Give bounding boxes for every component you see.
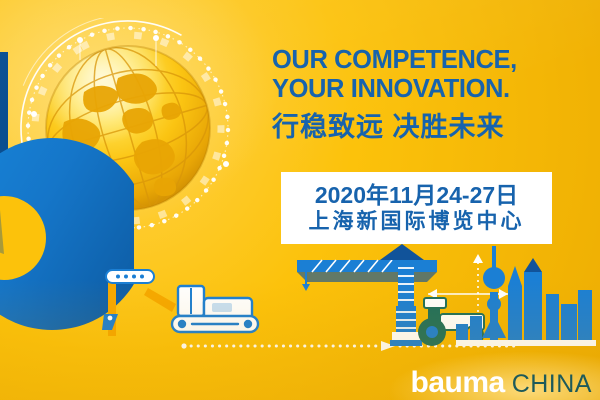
machinery-svg xyxy=(0,242,600,362)
headline-line-chinese: 行稳致远 决胜未来 xyxy=(272,110,588,144)
machinery-illustration-strip xyxy=(0,242,600,362)
bauma-china-logo: bauma CHINA xyxy=(411,368,593,398)
headline-line-1: OUR COMPETENCE, xyxy=(272,46,588,75)
arrow-up-icon xyxy=(473,254,483,263)
bauma-china-promo-banner: OUR COMPETENCE, YOUR INNOVATION. 行稳致远 决胜… xyxy=(0,0,600,400)
headline-block: OUR COMPETENCE, YOUR INNOVATION. 行稳致远 决胜… xyxy=(272,46,588,144)
event-date: 2020年11月24-27日 xyxy=(315,182,518,209)
pile-driver-icon xyxy=(102,270,154,336)
event-venue: 上海新国际博览中心 xyxy=(309,209,525,235)
logo-region-label: CHINA xyxy=(512,372,592,397)
tower-crane-icon xyxy=(297,244,437,346)
logo-wordmark: bauma xyxy=(411,368,505,398)
event-date-venue-box: 2020年11月24-27日 上海新国际博览中心 xyxy=(281,172,552,244)
headline-line-2: YOUR INNOVATION. xyxy=(272,75,588,104)
excavator-icon xyxy=(144,286,258,332)
